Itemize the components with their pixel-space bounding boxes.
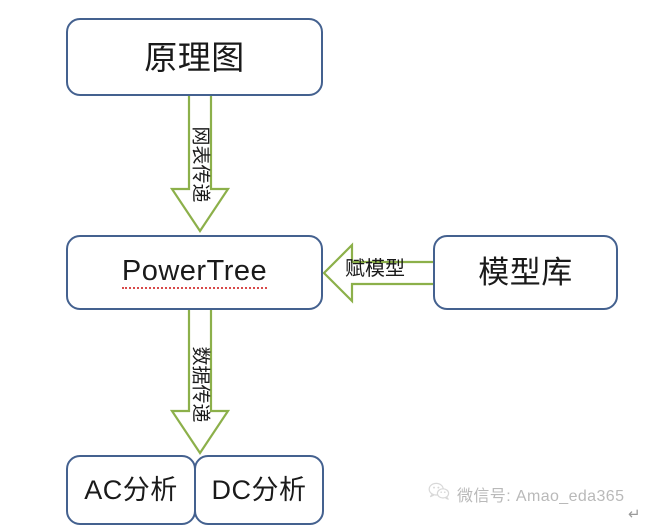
node-schematic-label: 原理图 bbox=[144, 41, 245, 74]
node-dc-analysis-label: DC分析 bbox=[212, 477, 307, 504]
node-schematic[interactable]: 原理图 bbox=[66, 18, 323, 96]
arrow-assign-label: 赋模型 bbox=[345, 259, 405, 279]
node-powertree-label: PowerTree bbox=[122, 257, 267, 289]
node-powertree[interactable]: PowerTree bbox=[66, 235, 323, 310]
watermark-text: 微信号: Amao_eda365 bbox=[457, 482, 624, 506]
node-ac-analysis[interactable]: AC分析 bbox=[66, 455, 196, 525]
paragraph-mark: ↵ bbox=[628, 505, 641, 523]
node-dc-analysis[interactable]: DC分析 bbox=[194, 455, 324, 525]
node-ac-analysis-label: AC分析 bbox=[84, 477, 178, 504]
watermark: 微信号: Amao_eda365 bbox=[428, 482, 624, 506]
wechat-icon bbox=[428, 482, 450, 506]
arrow-data-label: 数据传递 bbox=[191, 343, 210, 427]
diagram-canvas: 原理图 PowerTree 模型库 AC分析 DC分析 网表传递 数据传递 赋模… bbox=[0, 0, 653, 530]
node-model-library-label: 模型库 bbox=[478, 257, 573, 288]
node-model-library[interactable]: 模型库 bbox=[433, 235, 618, 310]
arrow-netlist-label: 网表传递 bbox=[191, 123, 210, 207]
